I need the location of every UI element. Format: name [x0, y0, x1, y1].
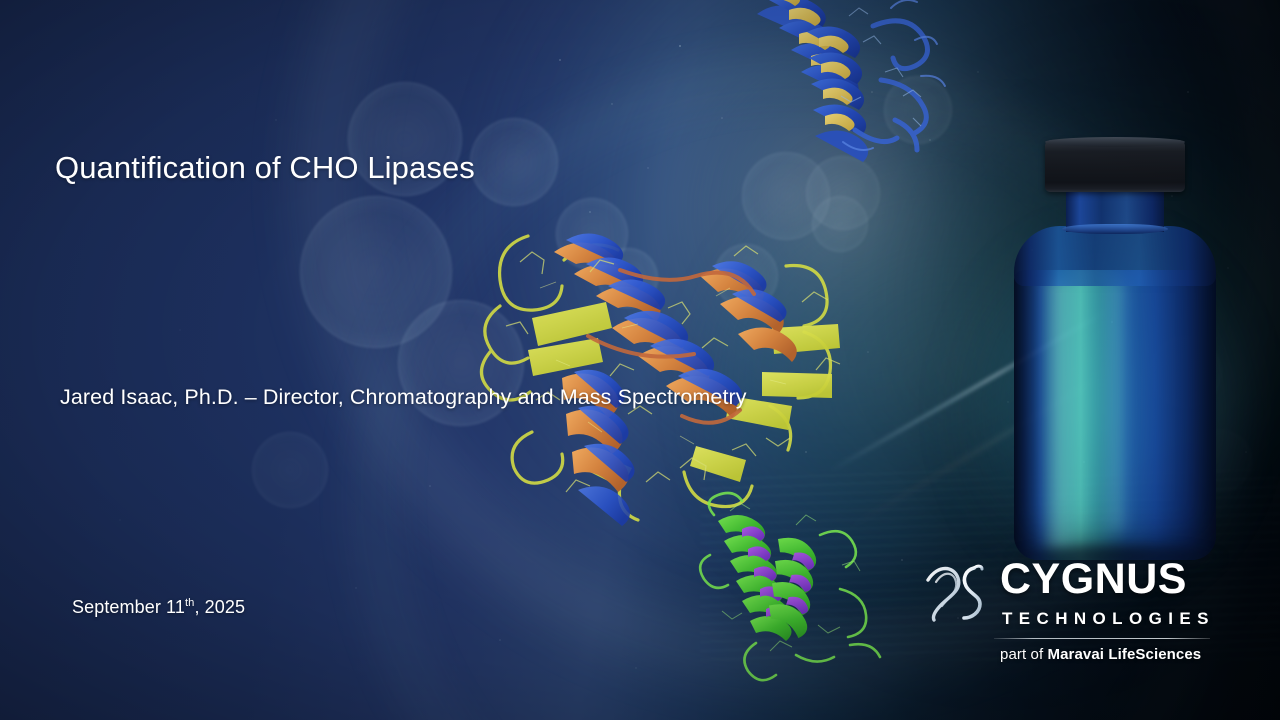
title-slide: Quantification of CHO Lipases Jared Isaa…: [0, 0, 1280, 720]
logo-tagline-brand: Maravai LifeSciences: [1048, 646, 1202, 663]
date-month-day: September 11: [72, 597, 185, 617]
logo-tagline-prefix: part of: [1000, 646, 1048, 663]
logo-divider: [994, 638, 1210, 639]
logo-subtitle: TECHNOLOGIES: [1002, 610, 1215, 627]
presentation-date: September 11th, 2025: [72, 597, 245, 618]
page-title: Quantification of CHO Lipases: [55, 150, 475, 186]
logo-wordmark: CYGNUS: [1000, 558, 1187, 601]
date-year: , 2025: [194, 597, 245, 617]
cygnus-swan-icon: [922, 560, 1000, 622]
cygnus-logo: CYGNUS TECHNOLOGIES part of Maravai Life…: [918, 552, 1218, 667]
presenter-line: Jared Isaac, Ph.D. – Director, Chromatog…: [60, 385, 747, 410]
logo-tagline: part of Maravai LifeSciences: [1000, 646, 1201, 663]
